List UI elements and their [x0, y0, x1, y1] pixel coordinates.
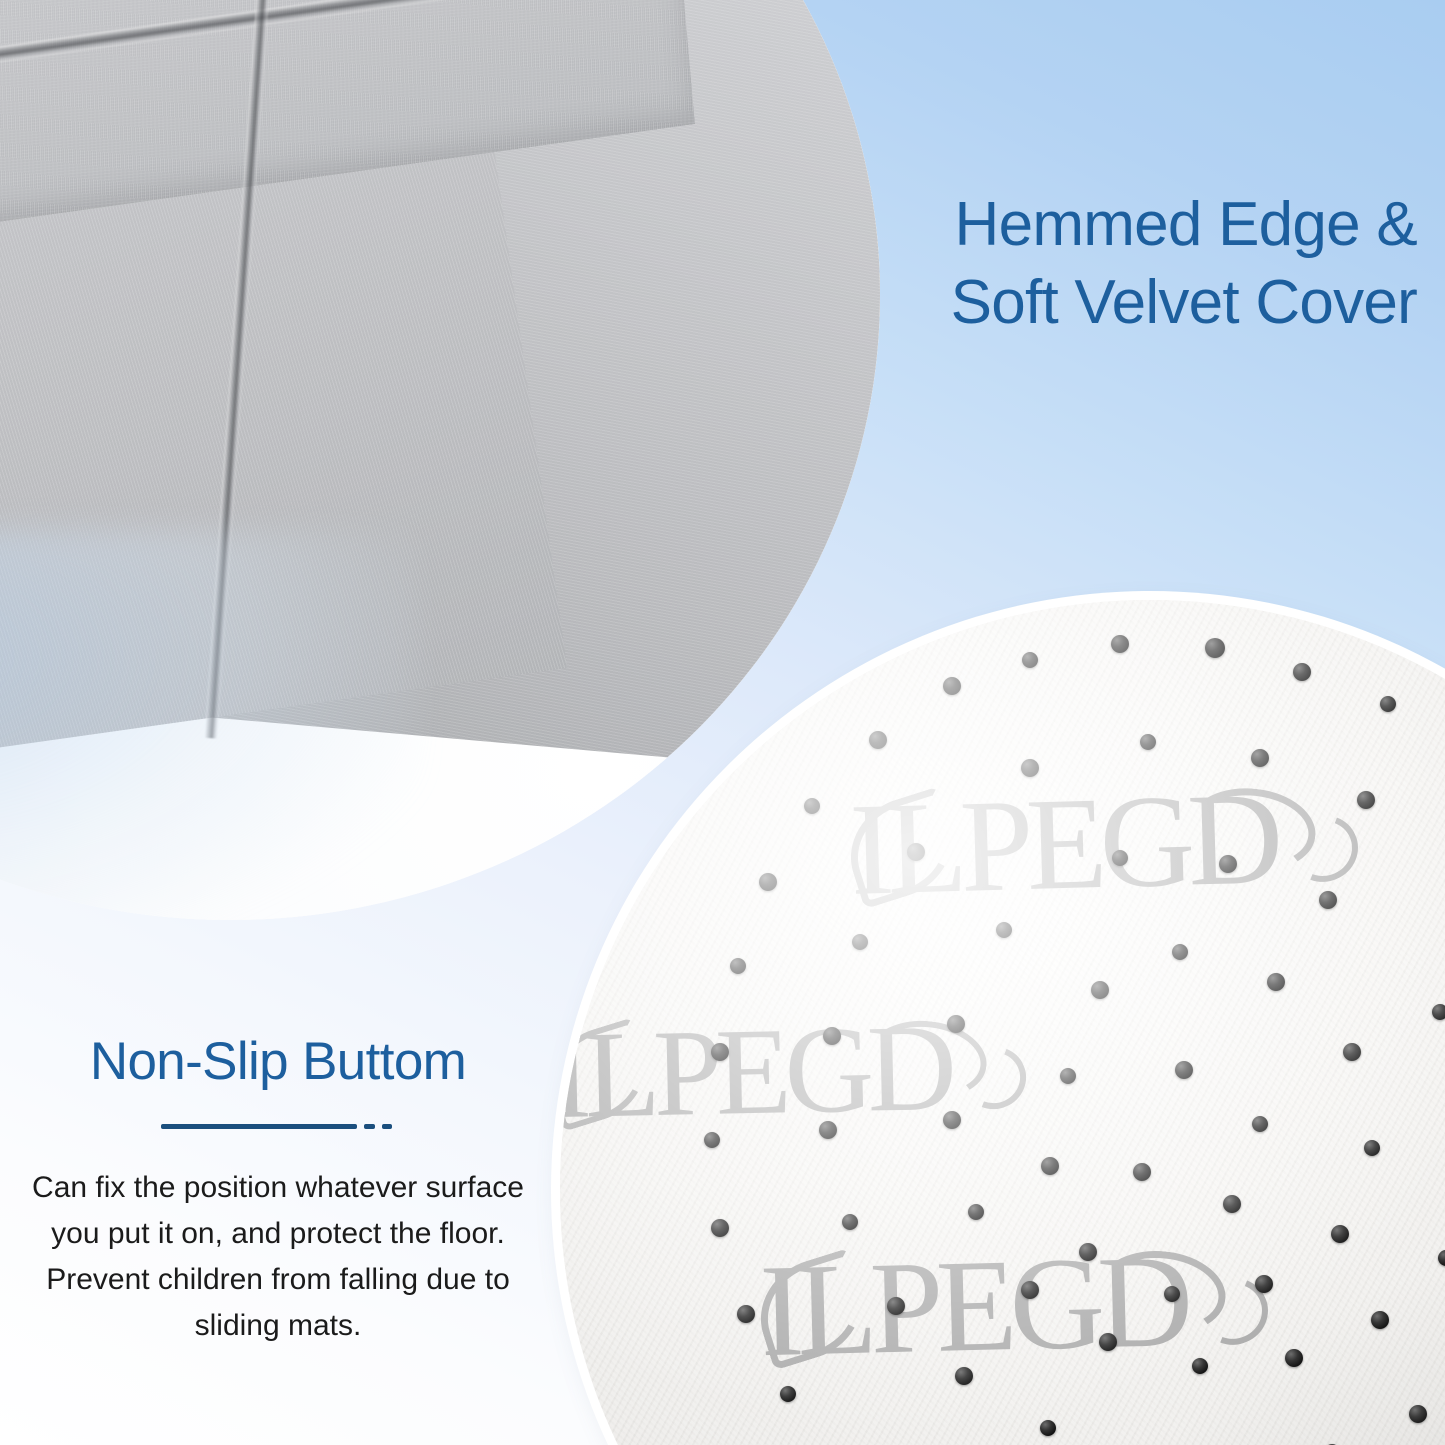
mat-photo: ILPEGD ILPEGD ILPEGD: [560, 600, 1445, 1445]
blue-light-bounce: [0, 530, 420, 920]
feature-description: Can fix the position whatever surface yo…: [0, 1165, 556, 1350]
title-divider: [161, 1123, 395, 1131]
headline-line-2: Soft Velvet Cover: [951, 264, 1417, 342]
product-feature-panel: ILPEGD ILPEGD ILPEGD Hemmed Edge & So: [0, 0, 1445, 1445]
mat-lighting-shade: [560, 600, 1445, 1445]
mat-photo-circle: ILPEGD ILPEGD ILPEGD: [560, 600, 1445, 1445]
divider-dash: [364, 1124, 375, 1129]
feature-non-slip-bottom: Non-Slip Buttom Can fix the position wha…: [0, 1030, 556, 1349]
divider-line: [161, 1124, 357, 1129]
divider-dash: [382, 1124, 392, 1129]
headline-hemmed-edge: Hemmed Edge & Soft Velvet Cover: [951, 186, 1417, 341]
feature-title: Non-Slip Buttom: [0, 1030, 556, 1094]
headline-line-1: Hemmed Edge &: [951, 186, 1417, 264]
